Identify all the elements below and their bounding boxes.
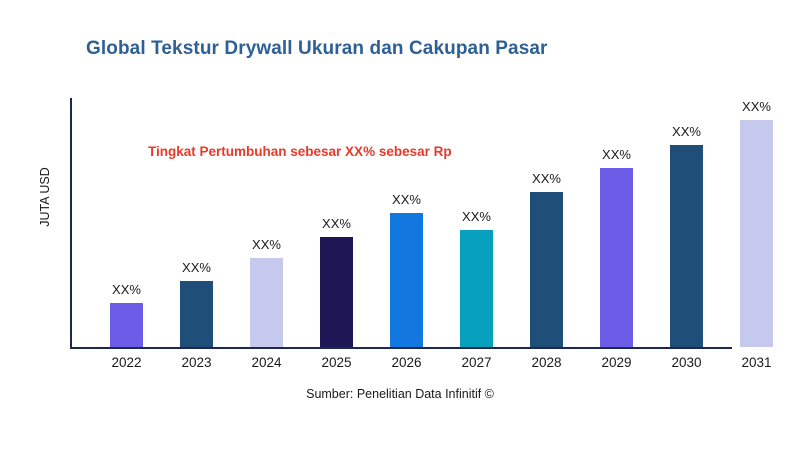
bar-value-label-2027: XX%: [447, 209, 507, 224]
bar-2031[interactable]: [740, 120, 773, 347]
x-tick-label-2027: 2027: [447, 355, 507, 370]
plot-area: XX%2022XX%2023XX%2024XX%2025XX%2026XX%20…: [0, 0, 800, 450]
x-tick-label-2028: 2028: [517, 355, 577, 370]
bar-2026[interactable]: [390, 213, 423, 347]
bar-value-label-2022: XX%: [97, 282, 157, 297]
bar-value-label-2024: XX%: [237, 237, 297, 252]
bar-value-label-2023: XX%: [167, 260, 227, 275]
growth-rate-annotation: Tingkat Pertumbuhan sebesar XX% sebesar …: [148, 144, 452, 159]
bar-2029[interactable]: [600, 168, 633, 347]
x-tick-label-2031: 2031: [727, 355, 787, 370]
bar-value-label-2028: XX%: [517, 171, 577, 186]
bar-2030[interactable]: [670, 145, 703, 347]
bar-value-label-2029: XX%: [587, 147, 647, 162]
x-tick-label-2023: 2023: [167, 355, 227, 370]
bar-2028[interactable]: [530, 192, 563, 347]
bar-2022[interactable]: [110, 303, 143, 347]
x-tick-label-2025: 2025: [307, 355, 367, 370]
y-axis-line: [70, 98, 72, 348]
bar-2025[interactable]: [320, 237, 353, 347]
x-tick-label-2022: 2022: [97, 355, 157, 370]
x-axis-line: [70, 347, 732, 349]
x-tick-label-2026: 2026: [377, 355, 437, 370]
source-note: Sumber: Penelitian Data Infinitif ©: [0, 387, 800, 401]
x-tick-label-2029: 2029: [587, 355, 647, 370]
bar-2024[interactable]: [250, 258, 283, 347]
bar-value-label-2030: XX%: [657, 124, 717, 139]
bar-2023[interactable]: [180, 281, 213, 347]
bar-2027[interactable]: [460, 230, 493, 347]
x-tick-label-2024: 2024: [237, 355, 297, 370]
bar-value-label-2026: XX%: [377, 192, 437, 207]
bar-value-label-2025: XX%: [307, 216, 367, 231]
chart-container: Global Tekstur Drywall Ukuran dan Cakupa…: [0, 0, 800, 450]
x-tick-label-2030: 2030: [657, 355, 717, 370]
bar-value-label-2031: XX%: [727, 99, 787, 114]
